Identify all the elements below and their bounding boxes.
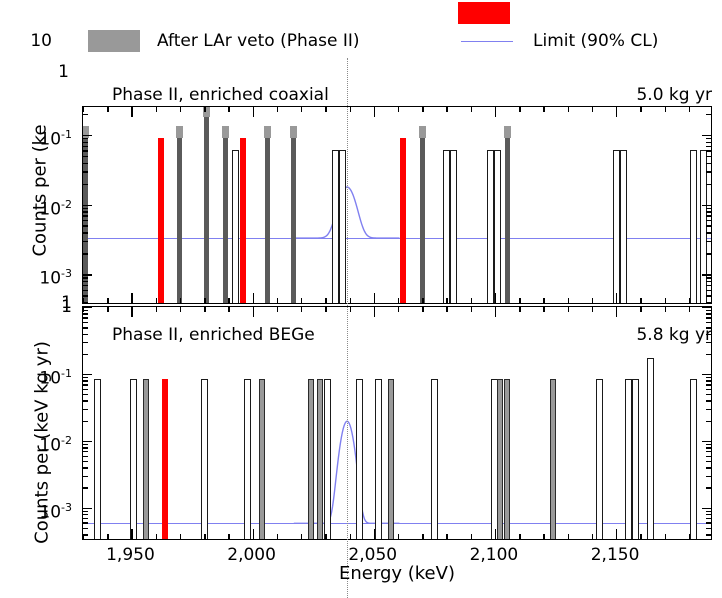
x-tick-mark — [592, 298, 593, 303]
y-tick-mark — [706, 451, 711, 452]
x-tick-mark — [568, 307, 569, 312]
x-tick-mark — [543, 534, 544, 539]
x-tick-mark — [156, 298, 157, 303]
y-tick-mark — [706, 232, 711, 233]
x-tick-mark — [325, 534, 326, 539]
event-bar — [317, 379, 323, 539]
x-tick-mark — [301, 298, 302, 303]
y-tick-label: 10-2 — [14, 196, 72, 219]
panel-title-coaxial: Phase II, enriched coaxial — [112, 85, 329, 105]
x-tick-mark — [689, 307, 690, 312]
y-tick-mark — [83, 142, 88, 143]
x-tick-mark — [350, 107, 351, 112]
y-tick-mark — [83, 327, 88, 328]
y-tick-mark — [706, 253, 711, 254]
event-bar — [130, 379, 137, 539]
y-tick-mark — [83, 421, 88, 422]
event-bar — [177, 138, 182, 303]
y-tick-mark — [83, 163, 88, 164]
y-tick-mark — [706, 220, 711, 221]
y-tick-mark — [706, 208, 711, 209]
plot-panel-coaxial — [82, 106, 712, 304]
x-tick-mark — [495, 307, 496, 317]
y-tick-mark — [706, 467, 711, 468]
x-tick-mark — [543, 298, 544, 303]
y-tick-mark — [83, 374, 92, 375]
y-tick-mark — [83, 409, 88, 410]
x-tick-mark — [204, 534, 205, 539]
x-tick-mark — [592, 307, 593, 312]
y-tick-mark — [706, 156, 711, 157]
x-tick-mark — [422, 534, 423, 539]
y-tick-mark — [83, 232, 88, 233]
y-tick-mark — [706, 142, 711, 143]
event-bar — [400, 138, 406, 303]
x-tick-mark — [471, 534, 472, 539]
x-tick-mark — [253, 107, 254, 117]
x-tick-mark — [180, 107, 181, 112]
event-bar — [244, 379, 251, 539]
event-bar — [613, 150, 620, 303]
x-tick-mark — [83, 534, 84, 539]
x-tick-mark — [398, 534, 399, 539]
x-tick-mark — [640, 307, 641, 312]
y-tick-mark — [702, 205, 711, 206]
event-bar — [420, 138, 425, 303]
x-tick-mark — [471, 107, 472, 112]
event-bar — [223, 138, 228, 303]
y-tick-mark — [83, 135, 92, 136]
event-bar — [690, 150, 697, 303]
y-tick-mark — [706, 317, 711, 318]
y-tick-mark — [706, 184, 711, 185]
x-tick-mark — [616, 307, 617, 317]
y-tick-mark — [706, 528, 711, 529]
x-tick-mark — [519, 298, 520, 303]
y-tick-mark — [83, 290, 88, 291]
event-bar — [647, 358, 654, 539]
y-tick-mark — [706, 310, 711, 311]
event-bar — [632, 379, 639, 539]
x-tick-mark — [301, 107, 302, 112]
event-bar — [291, 138, 296, 303]
event-bar — [265, 138, 270, 303]
y-tick-mark — [83, 456, 88, 457]
y-tick-mark — [702, 307, 711, 308]
y-tick-mark — [706, 171, 711, 172]
x-tick-mark — [665, 298, 666, 303]
y-tick-mark — [83, 285, 88, 286]
x-tick-mark — [422, 298, 423, 303]
x-tick-mark — [592, 107, 593, 112]
x-tick-mark — [543, 107, 544, 112]
x-tick-mark — [495, 107, 496, 117]
y-tick-label: 1 — [14, 294, 72, 312]
x-tick-mark — [350, 534, 351, 539]
event-bar — [201, 379, 208, 539]
event-bar — [450, 150, 457, 303]
x-tick-mark — [156, 307, 157, 312]
y-tick-mark — [83, 461, 88, 462]
x-tick-mark — [228, 107, 229, 112]
y-tick-mark — [83, 380, 88, 381]
x-tick-mark — [83, 307, 84, 312]
legend-swatch-red — [458, 2, 510, 24]
y-tick-mark — [706, 285, 711, 286]
x-tick-mark — [277, 298, 278, 303]
x-tick-mark — [350, 307, 351, 312]
x-tick-mark — [568, 298, 569, 303]
event-bar — [332, 150, 339, 303]
x-tick-mark — [495, 293, 496, 303]
y-tick-mark — [83, 171, 88, 172]
x-tick-mark — [398, 107, 399, 112]
y-tick-mark — [83, 467, 88, 468]
event-bar-veto-cap — [222, 126, 229, 138]
x-tick-mark — [180, 298, 181, 303]
x-tick-mark — [374, 307, 375, 317]
y-tick-mark — [706, 277, 711, 278]
y-tick-mark — [83, 522, 88, 523]
x-tick-mark — [253, 307, 254, 317]
event-bar-veto-cap — [176, 126, 183, 138]
x-tick-mark — [665, 307, 666, 312]
y-tick-mark — [706, 456, 711, 457]
y-tick-mark — [83, 518, 88, 519]
x-tick-mark — [665, 534, 666, 539]
event-bar — [232, 150, 239, 303]
legend-label-limit: Limit (90% CL) — [533, 29, 658, 53]
y-tick-mark — [706, 522, 711, 523]
y-tick-mark — [706, 146, 711, 147]
legend-label-gray: After LAr veto (Phase II) — [157, 29, 360, 53]
x-tick-mark — [398, 307, 399, 312]
event-bar — [550, 379, 556, 539]
x-tick-mark — [689, 107, 690, 112]
event-bar — [690, 379, 697, 539]
event-bar-veto-cap — [264, 126, 271, 138]
x-tick-mark — [665, 107, 666, 112]
event-bar — [596, 379, 603, 539]
panel-title-bege: Phase II, enriched BEGe — [112, 325, 315, 345]
y-tick-mark — [706, 394, 711, 395]
y-tick-mark — [706, 384, 711, 385]
x-tick-mark — [228, 298, 229, 303]
y-tick-mark — [706, 444, 711, 445]
x-tick-label: 1,950 — [95, 545, 165, 565]
x-tick-mark — [156, 534, 157, 539]
y-tick-mark — [706, 241, 711, 242]
event-bar-veto-cap — [83, 126, 89, 138]
y-tick-mark — [83, 377, 88, 378]
y-tick-mark — [706, 389, 711, 390]
y-tick-label: 10-3 — [14, 265, 72, 288]
x-axis-label: Energy (keV) — [82, 563, 712, 584]
y-tick-mark — [706, 409, 711, 410]
x-tick-mark — [422, 307, 423, 312]
y-tick-mark — [83, 156, 88, 157]
y-tick-mark — [83, 184, 88, 185]
x-tick-mark — [374, 529, 375, 539]
y-tick-mark — [83, 253, 88, 254]
y-tick-mark — [706, 476, 711, 477]
event-bar — [443, 150, 450, 303]
x-tick-mark — [253, 293, 254, 303]
x-tick-mark — [277, 534, 278, 539]
x-tick-mark — [107, 307, 108, 312]
y-tick-mark — [83, 277, 88, 278]
x-tick-mark — [519, 307, 520, 312]
x-tick-label: 2,050 — [338, 545, 408, 565]
x-tick-mark — [83, 298, 84, 303]
y-tick-mark — [706, 421, 711, 422]
y-tick-mark — [706, 380, 711, 381]
plot-area-coaxial — [83, 107, 711, 303]
x-tick-mark — [277, 307, 278, 312]
legend-swatch-gray — [88, 30, 140, 52]
x-tick-mark — [446, 307, 447, 312]
orphan-ytick-10: 10 — [20, 31, 52, 51]
y-tick-mark — [706, 377, 711, 378]
event-bar — [487, 150, 494, 303]
event-bar — [620, 150, 627, 303]
x-tick-mark — [228, 307, 229, 312]
x-tick-mark — [204, 307, 205, 312]
x-tick-mark — [107, 298, 108, 303]
y-tick-mark — [706, 114, 711, 115]
y-tick-mark — [83, 528, 88, 529]
x-tick-mark — [592, 534, 593, 539]
x-tick-mark — [640, 534, 641, 539]
y-tick-mark — [83, 138, 88, 139]
event-bar — [143, 379, 149, 539]
event-bar — [388, 379, 394, 539]
panel-exposure-bege: 5.8 kg yr — [560, 325, 712, 345]
y-tick-mark — [706, 514, 711, 515]
y-tick-mark — [83, 317, 88, 318]
y-tick-mark — [83, 295, 88, 296]
y-tick-mark — [83, 342, 88, 343]
x-tick-mark — [180, 307, 181, 312]
y-tick-mark — [83, 241, 88, 242]
x-tick-mark — [568, 534, 569, 539]
y-tick-mark — [83, 400, 88, 401]
event-bar — [158, 138, 164, 303]
y-tick-mark — [706, 511, 711, 512]
x-tick-mark — [616, 107, 617, 117]
x-tick-mark — [325, 107, 326, 112]
x-tick-label: 2,000 — [217, 545, 287, 565]
y-tick-mark — [706, 461, 711, 462]
x-tick-mark — [495, 529, 496, 539]
event-bar — [339, 150, 346, 303]
x-tick-mark — [446, 534, 447, 539]
event-bar-veto-cap — [419, 126, 426, 138]
y-tick-mark — [702, 508, 711, 509]
y-tick-mark — [706, 313, 711, 314]
orphan-ytick-1: 1 — [20, 62, 69, 82]
y-tick-mark — [83, 451, 88, 452]
y-tick-mark — [702, 374, 711, 375]
y-tick-mark — [83, 225, 88, 226]
y-tick-mark — [83, 281, 88, 282]
event-bar — [204, 117, 209, 303]
x-tick-mark — [471, 307, 472, 312]
y-tick-mark — [83, 354, 88, 355]
x-tick-label: 2,100 — [459, 545, 529, 565]
event-bar-veto-cap — [290, 126, 297, 138]
y-tick-mark — [706, 290, 711, 291]
x-tick-mark — [277, 107, 278, 112]
x-tick-mark — [398, 298, 399, 303]
x-tick-mark — [83, 107, 84, 112]
x-tick-mark — [204, 107, 205, 112]
x-tick-mark — [107, 534, 108, 539]
y-tick-mark — [706, 225, 711, 226]
y-tick-mark — [706, 281, 711, 282]
y-tick-mark — [83, 114, 88, 115]
x-tick-mark — [180, 534, 181, 539]
x-tick-mark — [204, 298, 205, 303]
y-tick-mark — [83, 205, 92, 206]
y-tick-mark — [83, 511, 88, 512]
event-bar — [625, 379, 632, 539]
y-tick-mark — [83, 514, 88, 515]
y-tick-mark — [706, 163, 711, 164]
event-bar — [259, 379, 265, 539]
x-tick-mark — [107, 107, 108, 112]
y-tick-mark — [706, 518, 711, 519]
x-tick-mark — [519, 107, 520, 112]
x-tick-mark — [350, 298, 351, 303]
event-bar — [162, 379, 168, 539]
y-tick-mark — [83, 334, 88, 335]
event-bar — [240, 138, 246, 303]
y-tick-mark — [83, 220, 88, 221]
y-tick-mark — [83, 444, 88, 445]
event-bar — [94, 379, 101, 539]
x-tick-mark — [422, 107, 423, 112]
x-tick-mark — [543, 307, 544, 312]
event-bar — [324, 379, 331, 539]
y-tick-mark — [83, 394, 88, 395]
event-bar — [505, 138, 510, 303]
y-tick-mark — [83, 208, 88, 209]
x-tick-mark — [325, 298, 326, 303]
y-tick-mark — [83, 146, 88, 147]
event-bar-veto-cap — [504, 126, 511, 138]
y-tick-mark — [706, 211, 711, 212]
x-tick-mark — [640, 107, 641, 112]
y-tick-mark — [83, 441, 92, 442]
x-tick-mark — [131, 107, 132, 117]
x-tick-mark — [446, 107, 447, 112]
x-tick-mark — [471, 298, 472, 303]
legend-swatch-limit-line — [461, 41, 513, 42]
x-tick-mark — [301, 534, 302, 539]
event-bar — [431, 379, 438, 539]
x-tick-mark — [374, 107, 375, 117]
y-tick-mark — [706, 487, 711, 488]
x-tick-mark — [325, 307, 326, 312]
y-tick-mark — [83, 476, 88, 477]
x-tick-mark — [228, 534, 229, 539]
x-tick-mark — [253, 529, 254, 539]
event-bar — [375, 379, 382, 539]
y-tick-mark — [706, 215, 711, 216]
x-tick-mark — [616, 529, 617, 539]
y-tick-label: 10-3 — [14, 499, 72, 522]
y-tick-mark — [83, 211, 88, 212]
x-tick-mark — [131, 529, 132, 539]
x-tick-mark — [301, 307, 302, 312]
x-tick-mark — [446, 298, 447, 303]
y-tick-mark — [706, 400, 711, 401]
y-tick-label: 10-2 — [14, 432, 72, 455]
event-bar — [356, 379, 363, 539]
y-tick-mark — [706, 447, 711, 448]
y-tick-mark — [706, 322, 711, 323]
y-tick-mark — [706, 302, 711, 303]
y-tick-mark — [83, 389, 88, 390]
event-bar — [308, 379, 314, 539]
x-tick-mark — [156, 107, 157, 112]
y-tick-mark — [706, 295, 711, 296]
y-tick-mark — [702, 441, 711, 442]
y-tick-mark — [83, 447, 88, 448]
x-tick-label: 2,150 — [580, 545, 650, 565]
x-tick-mark — [131, 307, 132, 317]
y-tick-mark — [83, 322, 88, 323]
x-tick-mark — [519, 534, 520, 539]
event-bar — [497, 379, 503, 539]
x-tick-mark — [689, 298, 690, 303]
x-tick-mark — [640, 298, 641, 303]
y-tick-mark — [706, 354, 711, 355]
y-tick-mark — [706, 150, 711, 151]
x-tick-mark — [374, 293, 375, 303]
y-tick-mark — [83, 313, 88, 314]
y-tick-mark — [83, 215, 88, 216]
x-tick-mark — [616, 293, 617, 303]
qbb-reference-line — [347, 58, 348, 598]
y-tick-mark — [702, 274, 711, 275]
y-tick-mark — [83, 274, 92, 275]
y-tick-label: 10-1 — [14, 365, 72, 388]
x-tick-mark — [689, 534, 690, 539]
x-tick-mark — [131, 293, 132, 303]
y-tick-mark — [706, 138, 711, 139]
event-bar — [504, 379, 510, 539]
y-tick-mark — [706, 534, 711, 535]
y-tick-mark — [83, 508, 92, 509]
x-tick-mark — [568, 107, 569, 112]
y-tick-mark — [83, 384, 88, 385]
event-bar — [494, 150, 501, 303]
y-tick-mark — [83, 487, 88, 488]
panel-exposure-coaxial: 5.0 kg yr — [560, 85, 712, 105]
y-tick-label: 10-1 — [14, 126, 72, 149]
y-tick-mark — [702, 135, 711, 136]
y-tick-mark — [83, 150, 88, 151]
